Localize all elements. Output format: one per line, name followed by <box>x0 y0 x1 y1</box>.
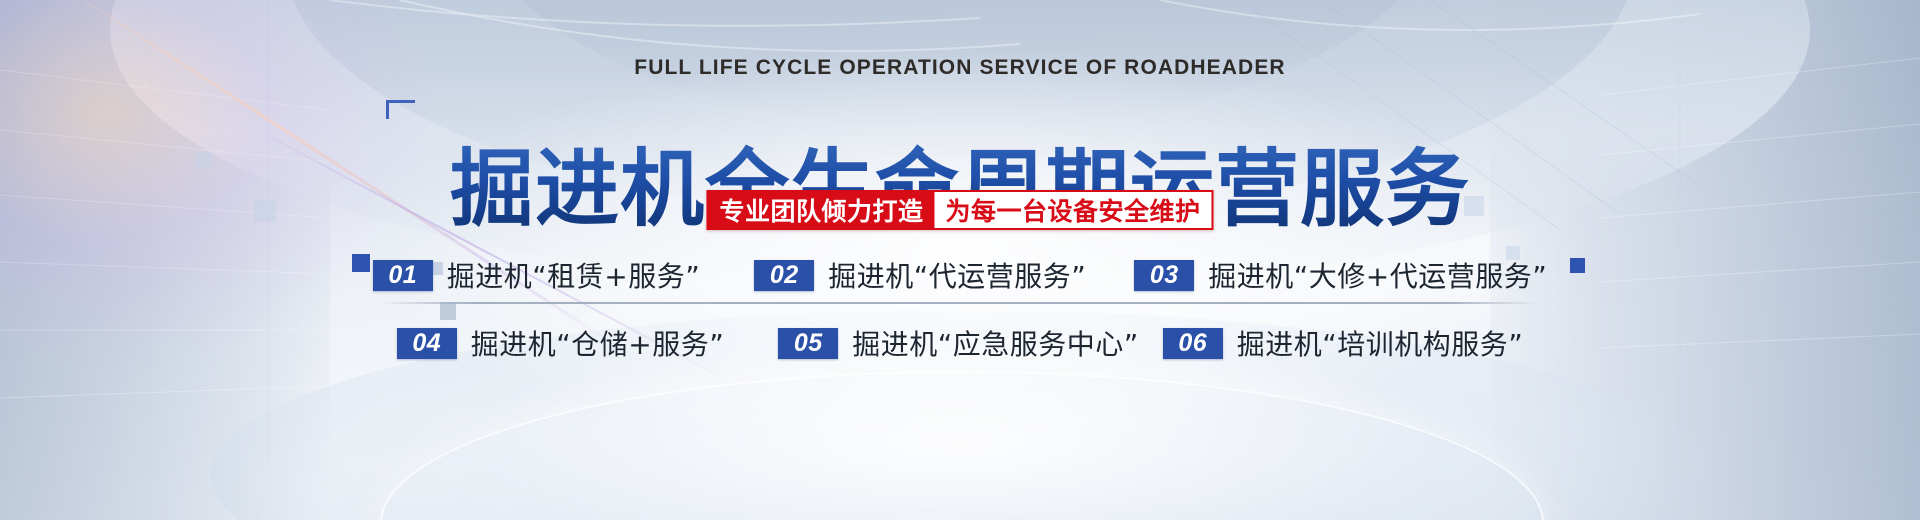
divider-tick <box>440 302 456 320</box>
service-label: 掘进机“培训机构服务” <box>1237 323 1524 363</box>
service-number-badge: 01 <box>373 260 433 291</box>
service-number-badge: 02 <box>754 260 814 291</box>
service-item-03[interactable]: 03 掘进机“大修+代运营服务” <box>1134 255 1547 295</box>
english-tagline: FULL LIFE CYCLE OPERATION SERVICE OF ROA… <box>0 56 1920 80</box>
service-item-06[interactable]: 06 掘进机“培训机构服务” <box>1163 323 1524 363</box>
service-label: 掘进机“大修+代运营服务” <box>1208 255 1547 295</box>
service-row-bottom: 04 掘进机“仓储+服务” 05 掘进机“应急服务中心” 06 掘进机“培训机构… <box>370 316 1550 370</box>
slogan-primary: 专业团队倾力打造 <box>708 192 934 228</box>
service-item-01[interactable]: 01 掘进机“租赁+服务” <box>373 255 700 295</box>
service-number-badge: 05 <box>778 328 838 359</box>
service-number-badge: 04 <box>397 328 457 359</box>
service-label: 掘进机“应急服务中心” <box>852 323 1139 363</box>
service-label: 掘进机“租赁+服务” <box>447 255 700 295</box>
service-item-05[interactable]: 05 掘进机“应急服务中心” <box>778 323 1139 363</box>
slogan-secondary: 为每一台设备安全维护 <box>935 192 1212 228</box>
service-item-04[interactable]: 04 掘进机“仓储+服务” <box>397 323 724 363</box>
banner-content: FULL LIFE CYCLE OPERATION SERVICE OF ROA… <box>0 0 1920 520</box>
service-item-02[interactable]: 02 掘进机“代运营服务” <box>754 255 1086 295</box>
promotional-banner: FULL LIFE CYCLE OPERATION SERVICE OF ROA… <box>0 0 1920 520</box>
service-row-top: 01 掘进机“租赁+服务” 02 掘进机“代运营服务” 03 掘进机“大修+代运… <box>370 248 1550 302</box>
service-number-badge: 03 <box>1134 260 1194 291</box>
list-divider <box>380 302 1540 304</box>
slogan-badge-strip: 专业团队倾力打造 为每一台设备安全维护 <box>706 190 1213 230</box>
service-label: 掘进机“代运营服务” <box>828 255 1086 295</box>
service-label: 掘进机“仓储+服务” <box>471 323 724 363</box>
service-number-badge: 06 <box>1163 328 1223 359</box>
service-list: 01 掘进机“租赁+服务” 02 掘进机“代运营服务” 03 掘进机“大修+代运… <box>370 248 1550 370</box>
